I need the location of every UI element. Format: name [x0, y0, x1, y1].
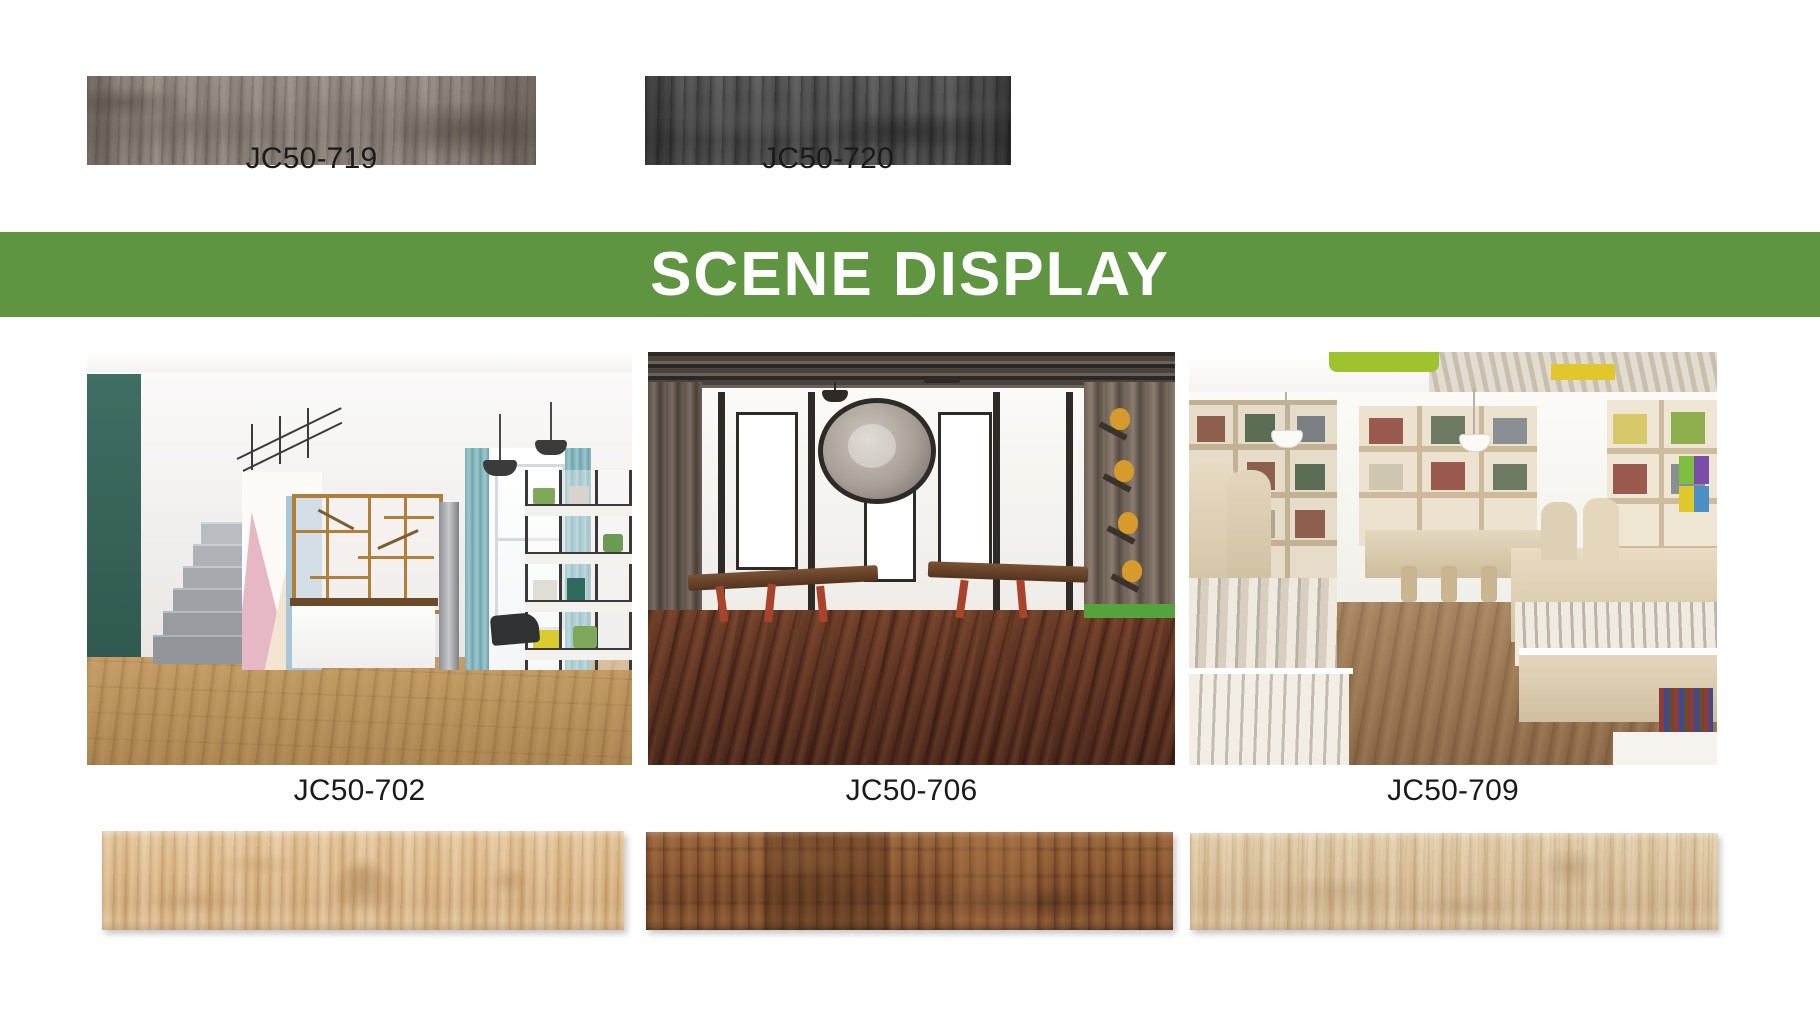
wood-lattice-partition: [292, 494, 443, 614]
bar-stool: [1441, 566, 1457, 602]
scene-label-jc50-706: JC50-706: [648, 774, 1175, 808]
frame-column: [1066, 392, 1073, 622]
green-ceiling-panel: [1329, 352, 1439, 372]
shelving-unit: [525, 470, 632, 670]
pendant-lamp: [1473, 388, 1475, 438]
teal-accent-wall: [87, 374, 141, 674]
frame-column: [993, 392, 1000, 622]
swatch-label-jc50-719: JC50-719: [87, 142, 536, 176]
plank-jc50-709: [1190, 833, 1718, 930]
product-rack-left-lower: [1189, 672, 1349, 765]
frame-column: [808, 392, 815, 622]
sample-display-board: [1541, 502, 1577, 560]
counter-top: [290, 598, 438, 606]
shelf-edge: [1519, 648, 1717, 655]
scene-image-jc50-709: [1189, 352, 1717, 765]
pendant-lamp-shade: [822, 390, 848, 402]
wood-grain-pattern: [1190, 833, 1718, 930]
plank-block-pattern: [646, 832, 1173, 930]
scene-label-jc50-702: JC50-702: [87, 774, 632, 808]
stair-railing: [237, 414, 347, 476]
medallion-detail: [848, 424, 896, 468]
lounge-chair: [490, 612, 540, 646]
staircase: [153, 522, 245, 662]
green-baseboard: [1084, 604, 1175, 618]
ceiling-fan: [924, 378, 960, 383]
white-platform: [1613, 732, 1717, 765]
pendant-lamp: [550, 402, 552, 442]
banner-panel-right: [938, 412, 992, 574]
banner-title: SCENE DISPLAY: [650, 244, 1170, 306]
sample-display-board: [1583, 498, 1619, 560]
counter-base: [292, 602, 435, 668]
plank-edge-shading: [646, 832, 1173, 930]
pendant-lamp-shade: [483, 460, 517, 476]
bar-stool: [1401, 566, 1417, 602]
pendant-lamp: [499, 414, 501, 462]
grey-column: [439, 502, 459, 670]
curtain-left: [465, 448, 489, 670]
plank-edge-shading: [102, 831, 624, 930]
wood-knot-pattern: [102, 831, 624, 930]
swatch-label-jc50-720: JC50-720: [645, 142, 1011, 176]
plank-jc50-702: [102, 831, 624, 930]
plank-edge-shading: [1190, 833, 1718, 930]
scene-image-jc50-706: [648, 352, 1175, 765]
scene-display-banner: SCENE DISPLAY: [0, 232, 1820, 317]
plank-jc50-706: [646, 832, 1173, 930]
catalog-page: JC50-719 JC50-720 SCENE DISPLAY: [0, 0, 1820, 1024]
dark-wood-floor: [648, 610, 1175, 765]
wood-floor: [87, 657, 632, 765]
wall-shelving-center: [1359, 406, 1537, 546]
bar-stool: [1481, 566, 1497, 602]
left-wood-wall: [648, 382, 702, 632]
yellow-ceiling-panel: [1551, 364, 1615, 380]
colour-swatch-tiles: [1679, 456, 1709, 484]
hanging-ornaments: [1088, 408, 1168, 598]
pendant-lamp: [1285, 392, 1287, 434]
scene-label-jc50-709: JC50-709: [1189, 774, 1717, 808]
colour-swatch-tiles: [1679, 486, 1709, 512]
shelf-edge: [1189, 668, 1353, 674]
pendant-lamp-shade: [535, 440, 567, 455]
scene-image-jc50-702: [87, 352, 632, 765]
banner-panel-left: [736, 412, 798, 570]
